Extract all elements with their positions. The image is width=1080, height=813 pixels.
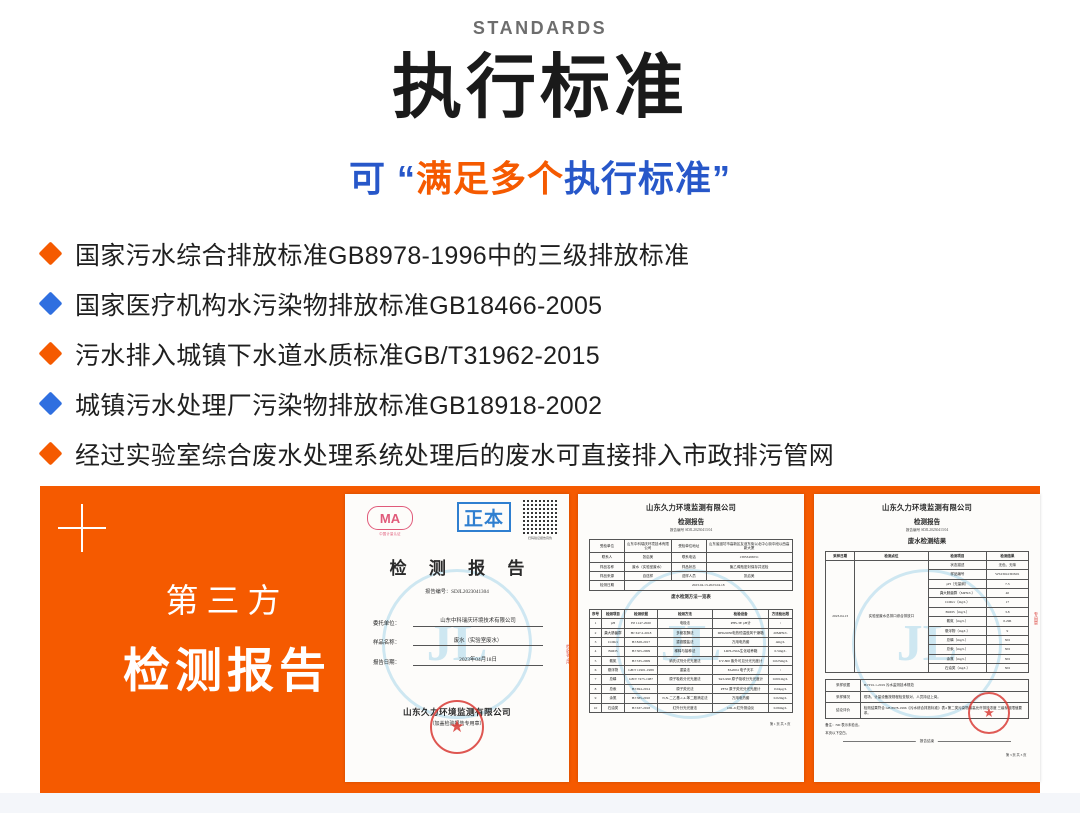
doc1-field-row: 样品名称： 废水（实验室废水）: [373, 636, 543, 647]
table-cell: BOD5（mg/L）: [928, 607, 986, 616]
table-cell: /: [769, 666, 792, 675]
column-header: 检测项目: [601, 609, 624, 618]
table-cell: 粪大肠菌群: [601, 628, 624, 637]
column-header: 检测方法: [657, 609, 712, 618]
standard-text: 经过实验室综合废水处理系统处理后的废水可直接排入市政排污管网: [75, 436, 834, 472]
table-cell: 20MPN/L: [769, 628, 792, 637]
field-value: 山东中科瑞庆环境技术有限公司: [413, 616, 543, 627]
table-cell: N,N-二乙基-1,4-苯二胺滴定法: [657, 694, 712, 703]
subtitle-highlight: 满足多个: [416, 158, 564, 199]
table-cell: pH: [601, 619, 624, 628]
doc3-tail-word: 报告结束: [916, 739, 938, 744]
subtitle-lead: 可 “: [349, 158, 416, 199]
doc1-title: 检 测 报 告: [345, 554, 569, 579]
table-cell: LRH-250A生化培养箱: [713, 647, 769, 656]
diamond-bullet-icon: [38, 341, 62, 365]
cell-value: 2023.04.13-2023.04.18: [624, 581, 792, 590]
table-cell: HJ 694-2014: [625, 684, 658, 693]
diamond-bullet-icon: [38, 391, 62, 415]
table-cell: TAS-990 原子吸收分光光度计: [713, 675, 769, 684]
table-cell: 7: [590, 675, 601, 684]
table-cell: 10: [590, 703, 601, 712]
table-cell: 无色、无味: [987, 560, 1029, 569]
doc1-report-number: 报告编号：SDJL2023041304: [345, 588, 569, 595]
table-cell: 0.5mg/L: [769, 647, 792, 656]
cell-label: 样品名称: [590, 562, 624, 571]
cma-logo-icon: MA: [367, 506, 413, 530]
standard-text: 城镇污水处理厂污染物排放标准GB18918-2002: [75, 386, 602, 422]
doc1-field-list: 委托单位： 山东中科瑞庆环境技术有限公司 样品名称： 废水（实验室废水） 报告日…: [373, 616, 543, 675]
table-cell: 余氯: [601, 694, 624, 703]
doc3-report-number: 报告编号 SDJL20230413 04: [814, 528, 1040, 533]
cell-label: 采样依据: [826, 680, 860, 691]
table-row: 6悬浮物GB/T 11901-1989重量法FA2004 电子天平/: [590, 666, 792, 675]
table-cell: HJ 637-2018: [625, 703, 658, 712]
table-cell: 8: [590, 684, 601, 693]
table-cell: 9: [590, 694, 601, 703]
subtitle-trail: 执行标准”: [564, 158, 731, 199]
table-cell: WS230413DX01: [987, 570, 1029, 579]
certificate-document-3[interactable]: JL 山东久力环境监测有限公司 检测报告 报告编号 SDJL20230413 0…: [814, 494, 1040, 782]
column-header: 序号: [590, 609, 601, 618]
cell-label: 样品状态: [672, 562, 706, 571]
table-cell: 万用电热套: [713, 694, 769, 703]
cell-value: 张启美: [706, 572, 792, 581]
page-root: STANDARDS 执行标准 可 “满足多个执行标准” 国家污水综合排放标准GB…: [0, 18, 1080, 813]
table-cell: HJ 1147-2020: [625, 619, 658, 628]
table-cell: ND: [987, 635, 1029, 644]
table-cell: CODcr（mg/L）: [928, 598, 986, 607]
table-cell: pH（无量纲）: [928, 579, 986, 588]
certificate-document-2[interactable]: JL 山东久力环境监测有限公司 检测报告 报告编号 SDJL20230413 0…: [578, 494, 804, 782]
table-row: 1pHHJ 1147-2020电极法PHS-3E pH计/: [590, 619, 792, 628]
cell-value: 13853496551: [706, 553, 792, 562]
cell-label: 结论评价: [826, 703, 860, 719]
table-row: 受检单位山东中科瑞庆环境技术有限公司受检单位地址山东省潍坊市高新区友谊东街以北中…: [590, 539, 792, 553]
column-header: 检验设备: [713, 609, 769, 618]
table-cell: CODcr: [601, 637, 624, 646]
doc1-field-row: 报告日期： 2023年04月18日: [373, 655, 543, 666]
doc2-section-title: 废水检测方法一览表: [578, 591, 804, 603]
cell-value: 聚乙烯瓶密封保存并送检: [706, 562, 792, 571]
table-cell: 石油类（mg/L）: [928, 664, 986, 673]
table-row: 2粪大肠菌群HJ 347.2-2018多管发酵法DHG9030电热恒温鼓风干燥箱…: [590, 628, 792, 637]
table-cell: 0.04μg/L: [769, 684, 792, 693]
doc3-page-footer: 第 3 页 共 3 页: [828, 752, 1027, 757]
table-cell: PF32 原子荧光分光光度计: [713, 684, 769, 693]
cell-sample-date: 2023.04.13: [826, 560, 855, 673]
doc3-tail: 报告结束: [843, 741, 1010, 744]
column-header: 方法检出限: [769, 609, 792, 618]
field-label: 委托单位：: [373, 619, 413, 627]
table-cell: 余氯（mg/L）: [928, 654, 986, 663]
cell-label: 受检单位: [590, 539, 624, 553]
standard-text: 污水排入城镇下水道水质标准GB/T31962-2015: [75, 336, 600, 372]
table-cell: 纳氏试剂分光光度法: [657, 656, 712, 665]
table-row: 9余氯HJ 585-2010N,N-二乙基-1,4-苯二胺滴定法万用电热套0.0…: [590, 694, 792, 703]
qr-code-icon: [523, 500, 557, 534]
standards-list: 国家污水综合排放标准GB8978-1996中的三级排放标准 国家医疗机构水污染物…: [42, 236, 1080, 472]
table-row: 样品名称废水（实验室废水）样品状态聚乙烯瓶密封保存并送检: [590, 562, 792, 571]
panel-caption-big: 检测报告: [102, 632, 352, 701]
side-red-seal-icon: 专用章: [1026, 612, 1038, 652]
diamond-bullet-icon: [38, 241, 62, 265]
table-cell: ND: [987, 664, 1029, 673]
table-cell: 稀释与接种法: [657, 647, 712, 656]
cell-value: 自送样: [624, 572, 671, 581]
qr-code-caption: 扫码验证报告真伪: [523, 536, 557, 540]
column-header: 采样日期: [826, 551, 855, 560]
doc1-field-row: 委托单位： 山东中科瑞庆环境技术有限公司: [373, 616, 543, 627]
column-header: 检测结果: [987, 551, 1029, 560]
doc2-report-number: 报告编号 SDJL20230413 04: [578, 528, 804, 533]
standard-text: 国家污水综合排放标准GB8978-1996中的三级排放标准: [75, 236, 689, 272]
red-round-seal-icon: [430, 700, 484, 754]
table-row: 采样依据HJ/T91.1-2019 污水监测技术规范: [826, 680, 1028, 691]
plus-mark-icon: [58, 504, 106, 552]
table-cell: 0.001mg/L: [769, 675, 792, 684]
column-header: 检测点位: [854, 551, 928, 560]
table-cell: 重量法: [657, 666, 712, 675]
side-red-seal-icon: 检验专用: [557, 644, 569, 690]
table-row: 5氨氮HJ 535-2009纳氏试剂分光光度法UV-800 紫外可见分光光度计0…: [590, 656, 792, 665]
original-copy-stamp: 正本: [457, 502, 511, 532]
table-cell: 万用电热套: [713, 637, 769, 646]
eyebrow-standards: STANDARDS: [0, 18, 1080, 39]
cell-value: 山东中科瑞庆环境技术有限公司: [624, 539, 671, 553]
table-row: 检测日期2023.04.13-2023.04.18: [590, 581, 792, 590]
table-cell: HJ 535-2009: [625, 656, 658, 665]
table-cell: 原子吸收分光光度法: [657, 675, 712, 684]
cell-value: 废水（实验室废水）: [624, 562, 671, 571]
table-cell: HJ 585-2010: [625, 694, 658, 703]
table-cell: 9: [987, 626, 1029, 635]
table-cell: ND: [987, 654, 1029, 663]
table-cell: 红外分光光度法: [657, 703, 712, 712]
table-cell: 原子荧光法: [657, 684, 712, 693]
list-item: 城镇污水处理厂污染物排放标准GB18918-2002: [42, 386, 1080, 422]
table-cell: 氨氮（mg/L）: [928, 617, 986, 626]
table-row: 8总汞HJ 694-2014原子荧光法PF32 原子荧光分光光度计0.04μg/…: [590, 684, 792, 693]
table-row: 3CODcrHJ 828-2017重铬酸盐法万用电热套4mg/L: [590, 637, 792, 646]
table-cell: 氨氮: [601, 656, 624, 665]
table-cell: 3: [590, 637, 601, 646]
table-cell: 6: [590, 666, 601, 675]
table-cell: 样品编号: [928, 570, 986, 579]
table-cell: 悬浮物: [601, 666, 624, 675]
table-cell: FA2004 电子天平: [713, 666, 769, 675]
cell-value: 山东省潍坊市高新区友谊东街以北中心街中段以西高新大厦: [706, 539, 792, 553]
column-header: 检测依据: [625, 609, 658, 618]
cell-label: 受检单位地址: [672, 539, 706, 553]
table-cell: 粪大肠菌群（MPN/L）: [928, 589, 986, 598]
table-cell: BOD5: [601, 647, 624, 656]
panel-caption: 第三方 检测报告: [102, 574, 352, 701]
table-cell: 17: [987, 598, 1029, 607]
table-row: 联系人张启美联系电话13853496551: [590, 553, 792, 562]
table-cell: PHS-3E pH计: [713, 619, 769, 628]
doc2-company: 山东久力环境监测有限公司: [578, 503, 804, 513]
table-cell: 40: [987, 589, 1029, 598]
cell-value: 张启美: [624, 553, 671, 562]
table-cell: 4: [590, 647, 601, 656]
bottom-strip: [0, 793, 1080, 813]
table-cell: 0.02mg/L: [769, 694, 792, 703]
cell-label: 送样人员: [672, 572, 706, 581]
doc2-header: 山东久力环境监测有限公司 检测报告 报告编号 SDJL20230413 04: [578, 494, 804, 533]
table-cell: HJ 347.2-2018: [625, 628, 658, 637]
standard-text: 国家医疗机构水污染物排放标准GB18466-2005: [75, 286, 602, 322]
table-row: 7总磷GB/T 7475-1987原子吸收分光光度法TAS-990 原子吸收分光…: [590, 675, 792, 684]
cell-sample-point: 实验室废水总排口综合排放口: [854, 560, 928, 673]
doc3-title: 检测报告: [814, 516, 1040, 526]
doc3-result-table: 采样日期检测点位检测项目检测结果 2023.04.13实验室废水总排口综合排放口…: [825, 551, 1028, 674]
doc2-page-footer: 第 1 页 共 3 页: [592, 721, 791, 726]
certificate-document-1[interactable]: JL MA 中国计量认证 正本 扫码验证报告真伪 检 测 报 告 报告编号：SD…: [345, 494, 569, 782]
column-header: 检测项目: [928, 551, 986, 560]
red-round-seal-icon: [968, 692, 1010, 734]
table-cell: 总磷（mg/L）: [928, 635, 986, 644]
field-value: 2023年04月18日: [413, 655, 543, 666]
table-cell: 总磷: [601, 675, 624, 684]
table-cell: 重铬酸盐法: [657, 637, 712, 646]
doc3-header: 山东久力环境监测有限公司 检测报告 报告编号 SDJL20230413 04 废…: [814, 494, 1040, 545]
field-label: 样品名称：: [373, 638, 413, 646]
table-cell: 7.3: [987, 579, 1029, 588]
table-cell: 3.8: [987, 607, 1029, 616]
table-row: 4BOD5HJ 505-2009稀释与接种法LRH-250A生化培养箱0.5mg…: [590, 647, 792, 656]
cell-value: HJ/T91.1-2019 污水监测技术规范: [860, 680, 1028, 691]
table-cell: 石油类: [601, 703, 624, 712]
table-cell: ND: [987, 645, 1029, 654]
table-cell: HJ 505-2009: [625, 647, 658, 656]
table-cell: 4mg/L: [769, 637, 792, 646]
table-cell: 状态描述: [928, 560, 986, 569]
cell-label: 联系电话: [672, 553, 706, 562]
table-cell: 2: [590, 628, 601, 637]
table-cell: HJ 828-2017: [625, 637, 658, 646]
table-cell: 电极法: [657, 619, 712, 628]
doc2-info-table: 受检单位山东中科瑞庆环境技术有限公司受检单位地址山东省潍坊市高新区友谊东街以北中…: [589, 539, 792, 591]
cell-label: 检测日期: [590, 581, 624, 590]
subtitle: 可 “满足多个执行标准”: [0, 150, 1080, 202]
cell-label: 采样情况: [826, 691, 860, 702]
table-cell: DHG9030电热恒温鼓风干燥箱: [713, 628, 769, 637]
table-cell: 1: [590, 619, 601, 628]
list-item: 国家污水综合排放标准GB8978-1996中的三级排放标准: [42, 236, 1080, 272]
diamond-bullet-icon: [38, 291, 62, 315]
cma-logo-caption: 中国计量认证: [367, 531, 413, 536]
table-cell: OIL-6 红外测油仪: [713, 703, 769, 712]
table-cell: 多管发酵法: [657, 628, 712, 637]
table-cell: 总汞: [601, 684, 624, 693]
doc2-title: 检测报告: [578, 516, 804, 526]
cell-label: 联系人: [590, 553, 624, 562]
table-cell: /: [769, 619, 792, 628]
doc3-company: 山东久力环境监测有限公司: [814, 503, 1040, 513]
doc2-method-table: 序号检测项目检测依据检测方法检验设备方法检出限 1pHHJ 1147-2020电…: [589, 609, 792, 713]
table-cell: 悬浮物（mg/L）: [928, 626, 986, 635]
table-row: 10石油类HJ 637-2018红外分光光度法OIL-6 红外测油仪0.06mg…: [590, 703, 792, 712]
table-row: 2023.04.13实验室废水总排口综合排放口状态描述无色、无味: [826, 560, 1028, 569]
field-value: 废水（实验室废水）: [413, 636, 543, 647]
doc3-section-title: 废水检测结果: [814, 536, 1040, 545]
cell-label: 样品来源: [590, 572, 624, 581]
table-cell: 0.025mg/L: [769, 656, 792, 665]
table-cell: GB/T 11901-1989: [625, 666, 658, 675]
table-row: 样品来源自送样送样人员张启美: [590, 572, 792, 581]
table-cell: UV-800 紫外可见分光光度计: [713, 656, 769, 665]
list-item: 国家医疗机构水污染物排放标准GB18466-2005: [42, 286, 1080, 322]
diamond-bullet-icon: [38, 441, 62, 465]
table-cell: 0.296: [987, 617, 1029, 626]
list-item: 污水排入城镇下水道水质标准GB/T31962-2015: [42, 336, 1080, 372]
table-cell: 0.06mg/L: [769, 703, 792, 712]
table-cell: 5: [590, 656, 601, 665]
table-cell: GB/T 7475-1987: [625, 675, 658, 684]
page-title: 执行标准: [0, 47, 1080, 128]
table-cell: 总汞（mg/L）: [928, 645, 986, 654]
panel-caption-small: 第三方: [102, 574, 352, 622]
list-item: 经过实验室综合废水处理系统处理后的废水可直接排入市政排污管网: [42, 436, 1080, 472]
field-label: 报告日期：: [373, 658, 413, 666]
